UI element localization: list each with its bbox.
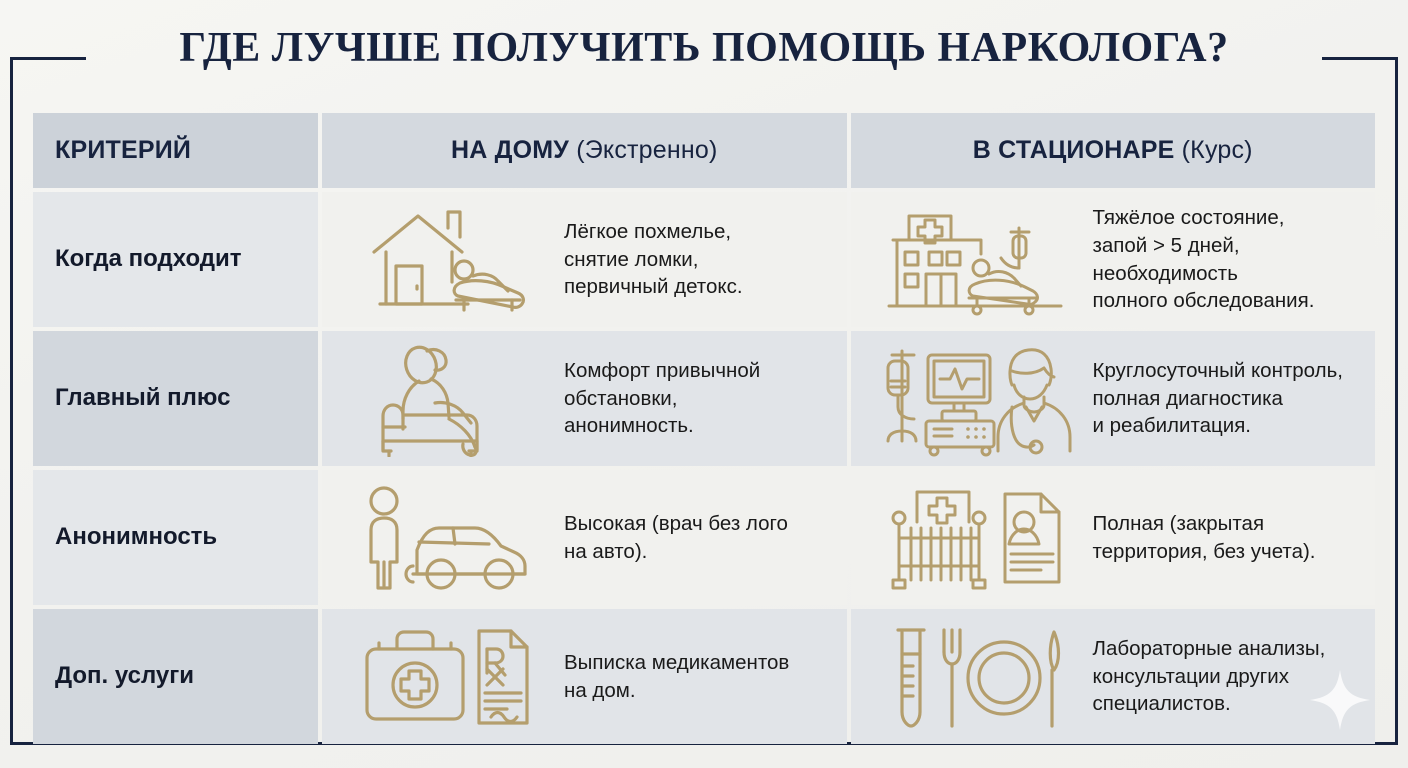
table-header-row: КРИТЕРИЙ НА ДОМУ (Экстренно) В СТАЦИОНАР… bbox=[33, 113, 1375, 188]
header-label-clinic-note: (Курс) bbox=[1182, 136, 1253, 164]
criterion-label: Доп. услуги bbox=[55, 662, 194, 691]
fenced-clinic-and-patient-file-icon bbox=[869, 482, 1079, 594]
person-relaxing-in-armchair-icon bbox=[340, 341, 550, 457]
header-label-clinic-bold: В СТАЦИОНАРЕ bbox=[973, 136, 1175, 164]
table-row: Когда подходит bbox=[33, 192, 1375, 327]
header-label-home-note: (Экстренно) bbox=[576, 136, 717, 164]
clinic-cell: Полная (закрытая территория, без учета). bbox=[851, 470, 1376, 605]
criterion-label: Главный плюс bbox=[55, 384, 230, 413]
clinic-cell: Лабораторные анализы, консультации други… bbox=[851, 609, 1376, 744]
infographic-poster: ГДЕ ЛУЧШЕ ПОЛУЧИТЬ ПОМОЩЬ НАРКОЛОГА? КРИ… bbox=[0, 0, 1408, 768]
table-row: Главный плюс bbox=[33, 331, 1375, 466]
criterion-cell: Главный плюс bbox=[33, 331, 318, 466]
page-title: ГДЕ ЛУЧШЕ ПОЛУЧИТЬ ПОМОЩЬ НАРКОЛОГА? bbox=[0, 27, 1408, 69]
criterion-label: Анонимность bbox=[55, 523, 217, 552]
frame-right-edge bbox=[1395, 57, 1398, 745]
iv-drip-monitor-doctor-icon bbox=[869, 341, 1079, 457]
home-description: Выписка медикаментов на дом. bbox=[564, 649, 829, 704]
header-label-home: НА ДОМУ (Экстренно) bbox=[451, 136, 718, 165]
header-label-home-bold: НА ДОМУ bbox=[451, 136, 569, 164]
header-cell-home: НА ДОМУ (Экстренно) bbox=[322, 113, 847, 188]
clinic-cell: Круглосуточный контроль, полная диагност… bbox=[851, 331, 1376, 466]
header-cell-clinic: В СТАЦИОНАРЕ (Курс) bbox=[851, 113, 1376, 188]
home-description: Высокая (врач без лого на авто). bbox=[564, 510, 829, 565]
test-tube-and-dining-set-icon bbox=[869, 622, 1079, 732]
comparison-table: КРИТЕРИЙ НА ДОМУ (Экстренно) В СТАЦИОНАР… bbox=[33, 113, 1375, 744]
person-and-unmarked-car-icon bbox=[340, 482, 550, 594]
hospital-building-with-iv-bed-icon bbox=[869, 202, 1079, 318]
header-label-criterion: КРИТЕРИЙ bbox=[55, 136, 191, 165]
criterion-cell: Когда подходит bbox=[33, 192, 318, 327]
table-row: Доп. услуги bbox=[33, 609, 1375, 744]
clinic-cell: Тяжёлое состояние, запой > 5 дней, необх… bbox=[851, 192, 1376, 327]
first-aid-kit-and-prescription-icon bbox=[340, 623, 550, 731]
header-label-clinic: В СТАЦИОНАРЕ (Курс) bbox=[973, 136, 1253, 165]
criterion-label: Когда подходит bbox=[55, 245, 242, 274]
home-cell: Лёгкое похмелье, снятие ломки, первичный… bbox=[322, 192, 847, 327]
clinic-description: Полная (закрытая территория, без учета). bbox=[1093, 510, 1358, 565]
home-cell: Высокая (врач без лого на авто). bbox=[322, 470, 847, 605]
header-cell-criterion: КРИТЕРИЙ bbox=[33, 113, 318, 188]
home-cell: Комфорт привычной обстановки, анонимност… bbox=[322, 331, 847, 466]
home-description: Комфорт привычной обстановки, анонимност… bbox=[564, 357, 829, 440]
criterion-cell: Анонимность bbox=[33, 470, 318, 605]
home-description: Лёгкое похмелье, снятие ломки, первичный… bbox=[564, 218, 829, 301]
table-row: Анонимность bbox=[33, 470, 1375, 605]
house-with-patient-on-bed-icon bbox=[340, 204, 550, 316]
criterion-cell: Доп. услуги bbox=[33, 609, 318, 744]
clinic-description: Лабораторные анализы, консультации други… bbox=[1093, 635, 1358, 718]
clinic-description: Тяжёлое состояние, запой > 5 дней, необх… bbox=[1093, 204, 1358, 315]
frame-left-edge bbox=[10, 57, 13, 745]
clinic-description: Круглосуточный контроль, полная диагност… bbox=[1093, 357, 1358, 440]
home-cell: Выписка медикаментов на дом. bbox=[322, 609, 847, 744]
